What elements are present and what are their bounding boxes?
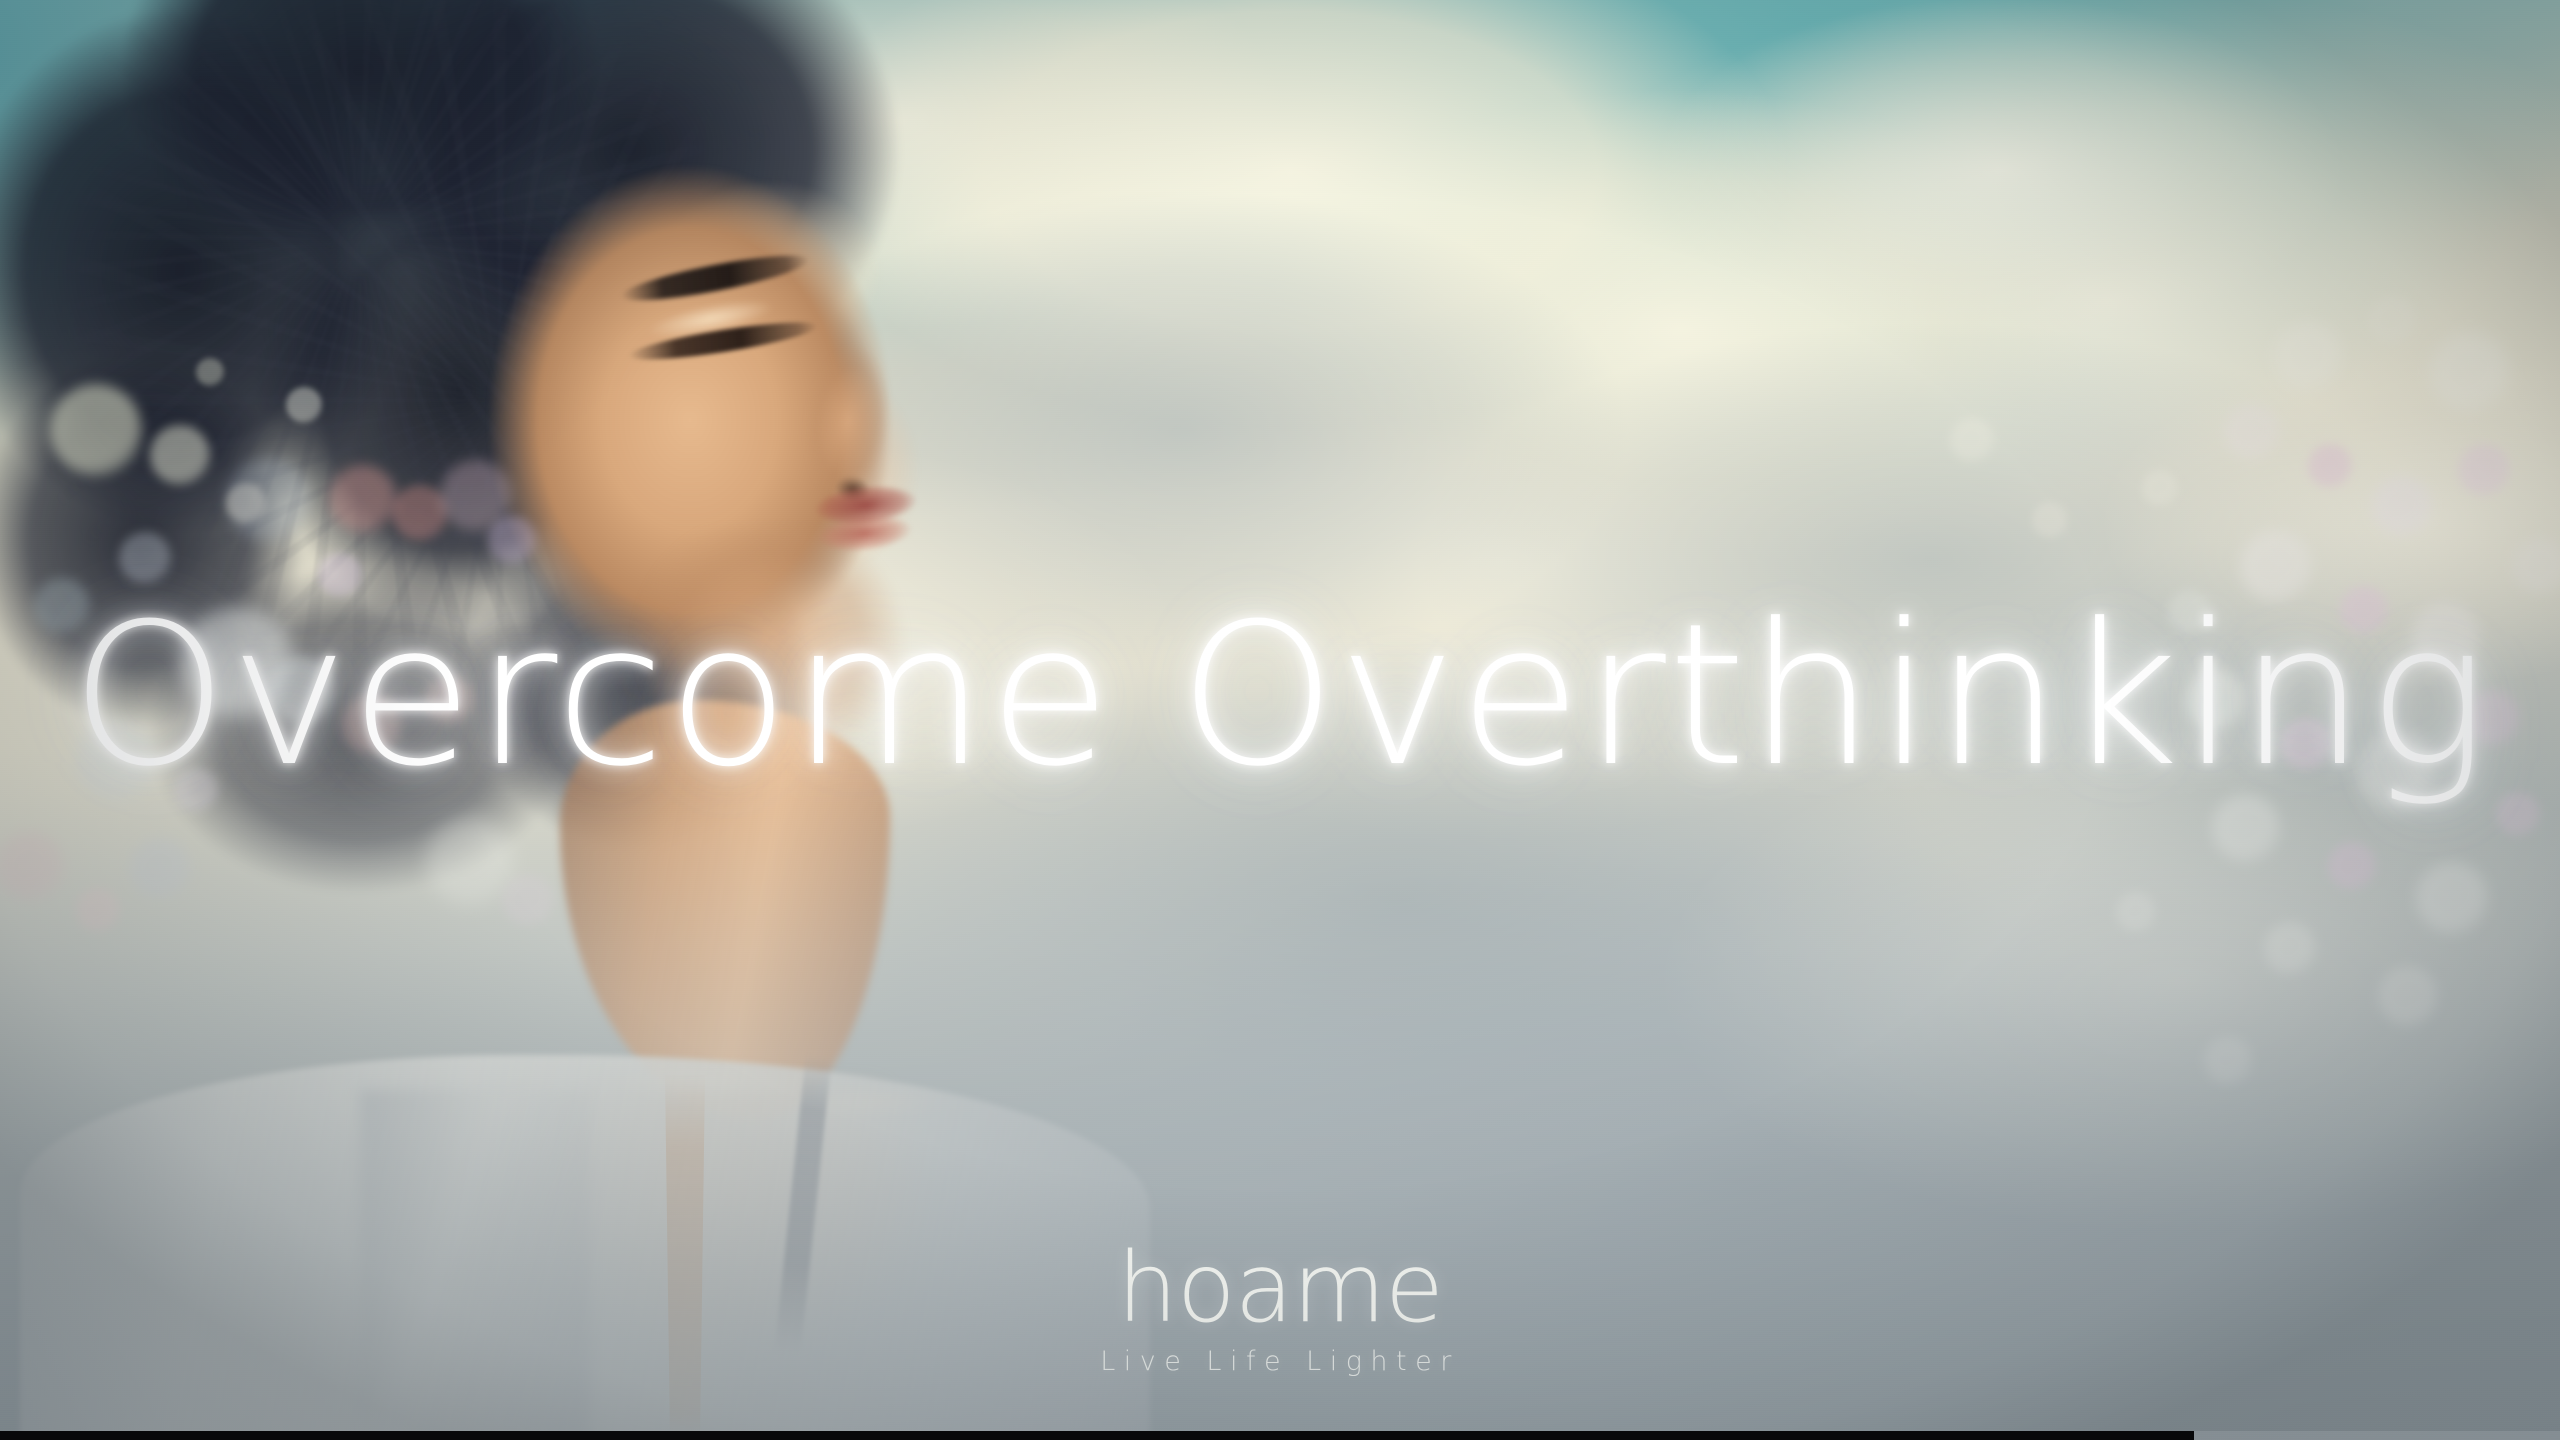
video-progress-bar[interactable] xyxy=(0,1431,2560,1440)
video-frame: Overcome Overthinking hoame Live Life Li… xyxy=(0,0,2560,1440)
vignette xyxy=(0,0,2560,1440)
video-progress-fill xyxy=(0,1431,2194,1440)
